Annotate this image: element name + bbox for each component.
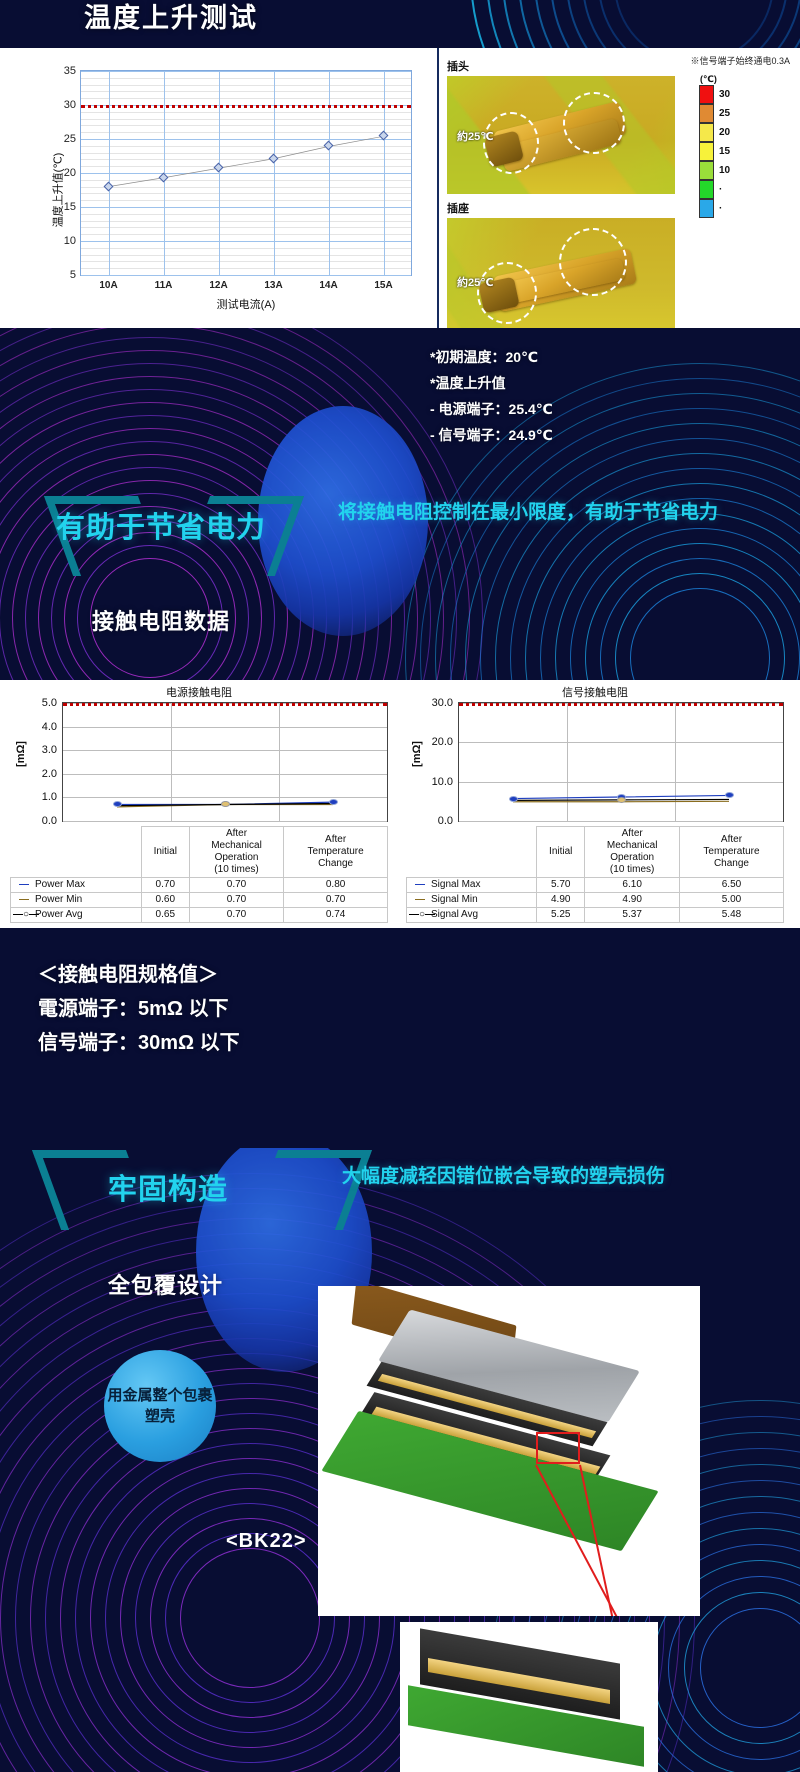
chart-gridline — [81, 275, 411, 276]
chart-x-axis-label: 测试电流(A) — [80, 296, 412, 312]
zoom-highlight-box — [536, 1432, 580, 1464]
decorative-arc — [615, 573, 785, 680]
decorative-arc — [570, 528, 800, 680]
signal-resistance-table: InitialAfterMechanicalOperation(10 times… — [406, 826, 784, 923]
legend-dash-blue-icon: — — [409, 879, 431, 891]
signal-resistance-chart: 信号接触电阻 [mΩ] 0.010.020.030.0 InitialAfter… — [400, 684, 790, 924]
decorative-arc — [630, 588, 770, 680]
table-row: —○—Signal Avg5.255.375.48 — [407, 908, 784, 923]
chart-gridline — [63, 821, 387, 822]
header-band: 温度上升测试 — [0, 0, 800, 48]
table-cell: 0.70 — [189, 878, 283, 893]
table-column-header: AfterMechanicalOperation(10 times) — [585, 827, 680, 878]
table-row-label: —Signal Min — [407, 893, 537, 908]
thermal-scale-row: 25 — [699, 104, 745, 123]
legend-dash-gold-icon: — — [409, 894, 431, 906]
table-cell: 4.90 — [585, 893, 680, 908]
legend-label: Signal Avg — [431, 909, 478, 920]
thermal-scale-row: 20 — [699, 123, 745, 142]
table-cell: 5.37 — [585, 908, 680, 923]
thermal-scale-row: 10 — [699, 161, 745, 180]
thermal-color-scale: (℃) 3025201510·· — [699, 74, 745, 218]
decorative-arc — [480, 438, 800, 680]
thermal-scale-row: 30 — [699, 85, 745, 104]
table-cell: 4.90 — [537, 893, 585, 908]
product-detail-zoom — [400, 1622, 658, 1772]
table-cell: 0.70 — [284, 893, 388, 908]
table-column-header: AfterTemperatureChange — [284, 827, 388, 878]
temperature-rise-chart: 温度上升值(℃) 510152025303510A11A12A13A14A15A… — [22, 66, 422, 314]
chart-y-tick: 35 — [64, 65, 76, 77]
table-row: —Signal Max5.706.106.50 — [407, 878, 784, 893]
thermal-socket-highlight-1 — [477, 262, 537, 324]
table-cell: 0.65 — [141, 908, 189, 923]
temperature-notes: *初期温度：20℃ *温度上升值 - 电源端子：25.4℃ - 信号端子：24.… — [430, 344, 553, 448]
chart-y-tick: 4.0 — [42, 721, 57, 733]
table-cell: 5.70 — [537, 878, 585, 893]
table-cell: 6.50 — [679, 878, 783, 893]
table-row-label: —Power Max — [11, 878, 142, 893]
spec-line-signal: 信号端子：30mΩ 以下 — [38, 1026, 240, 1060]
legend-label: Power Min — [35, 894, 82, 905]
chart-x-tick: 14A — [319, 280, 337, 291]
slide-page: 温度上升测试 ※信号端子始终通电0.3A 温度上升值(℃) 5101520253… — [0, 0, 800, 1772]
decorative-arc — [450, 408, 800, 680]
table-cell: 0.60 — [141, 893, 189, 908]
table-header-row: InitialAfterMechanicalOperation(10 times… — [407, 827, 784, 878]
table-row-label: —○—Power Avg — [11, 908, 142, 923]
thermal-scale-unit: (℃) — [700, 74, 745, 85]
thermal-plug-highlight-2 — [563, 92, 625, 154]
chart-y-tick: 5 — [70, 269, 76, 281]
chart-y-tick: 3.0 — [42, 744, 57, 756]
chart-y-axis-label: 温度上升值(℃) — [49, 153, 65, 228]
thermal-scale-row: 15 — [699, 142, 745, 161]
chart-x-tick: 12A — [209, 280, 227, 291]
table-cell: 5.00 — [679, 893, 783, 908]
contact-resistance-panel: 电源接触电阻 [mΩ] 0.01.02.03.04.05.0 InitialAf… — [0, 680, 800, 928]
table-row-label: —○—Signal Avg — [407, 908, 537, 923]
thermal-scale-value: · — [719, 203, 722, 214]
power-chart-y-label: [mΩ] — [15, 741, 27, 767]
table-cell: 0.74 — [284, 908, 388, 923]
thermal-scale-swatch — [699, 123, 714, 142]
power-resistance-chart: 电源接触电阻 [mΩ] 0.01.02.03.04.05.0 InitialAf… — [4, 684, 394, 924]
table-row: —Power Min0.600.700.70 — [11, 893, 388, 908]
metal-cover-bubble: 用金属整个包裹塑壳 — [104, 1350, 216, 1462]
table-header-row: InitialAfterMechanicalOperation(10 times… — [11, 827, 388, 878]
chart-x-tick: 15A — [374, 280, 392, 291]
page-title: 温度上升测试 — [84, 0, 258, 35]
thermal-scale-swatch — [699, 142, 714, 161]
chart-data-point — [509, 796, 518, 802]
power-saving-band: *初期温度：20℃ *温度上升值 - 电源端子：25.4℃ - 信号端子：24.… — [0, 328, 800, 680]
thermal-scale-value: 30 — [719, 89, 730, 100]
table-cell: 0.70 — [189, 908, 283, 923]
thermal-socket-highlight-2 — [559, 228, 627, 296]
chart-series-line — [81, 71, 411, 275]
thermal-scale-value: 10 — [719, 165, 730, 176]
legend-dash-gold-icon: — — [13, 894, 35, 906]
structure-band: 牢固构造 大幅度减轻因错位嵌合导致的塑壳损伤 全包覆设计 用金属整个包裹塑壳 <… — [0, 1148, 800, 1772]
chart-y-tick: 30 — [64, 99, 76, 111]
table-column-header: AfterTemperatureChange — [679, 827, 783, 878]
temperature-test-panel: ※信号端子始终通电0.3A 温度上升值(℃) 510152025303510A1… — [0, 48, 800, 328]
chart-y-tick: 10.0 — [432, 776, 453, 788]
thermal-scale-swatch — [699, 104, 714, 123]
thermal-scale-swatch — [699, 199, 714, 218]
temp-note-3: - 信号端子：24.9℃ — [430, 422, 553, 448]
chart-y-tick: 1.0 — [42, 791, 57, 803]
signal-chart-title: 信号接触电阻 — [400, 684, 790, 700]
power-chart-title: 电源接触电阻 — [4, 684, 394, 700]
power-resistance-table: InitialAfterMechanicalOperation(10 times… — [10, 826, 388, 923]
chart-y-tick: 15 — [64, 201, 76, 213]
chart-y-tick: 5.0 — [42, 697, 57, 709]
table-row-label: —Power Min — [11, 893, 142, 908]
spec-block: ＜接触电阻规格值＞ 電源端子：5mΩ 以下 信号端子：30mΩ 以下 — [38, 958, 240, 1060]
thermal-scale-swatch — [699, 85, 714, 104]
thermal-scale-value: 25 — [719, 108, 730, 119]
part-name-label: <BK22> — [226, 1530, 307, 1553]
table-cell: 0.70 — [141, 878, 189, 893]
thermal-scale-value: 20 — [719, 127, 730, 138]
thermal-scale-swatch — [699, 161, 714, 180]
table-row: —Power Max0.700.700.80 — [11, 878, 388, 893]
legend-line-circle-icon: —○— — [409, 909, 431, 921]
thermal-scale-row: · — [699, 199, 745, 218]
decorative-arc — [555, 513, 800, 680]
thermal-scale-swatch — [699, 180, 714, 199]
thermal-scale-value: · — [719, 184, 722, 195]
metal-cover-bubble-text: 用金属整个包裹塑壳 — [104, 1385, 216, 1427]
table-header-blank — [11, 827, 142, 878]
chart-x-tick: 11A — [155, 280, 173, 291]
thermal-images-group: 插头 約25℃ 插座 約25℃ ( — [447, 58, 747, 336]
table-column-header: AfterMechanicalOperation(10 times) — [189, 827, 283, 878]
decorative-arc — [165, 1533, 335, 1703]
signal-chart-plot: 0.010.020.030.0 — [458, 702, 784, 822]
table-row: —Signal Min4.904.905.00 — [407, 893, 784, 908]
chart-data-point-avg — [617, 797, 626, 803]
thermal-scale-value: 15 — [719, 146, 730, 157]
chart-gridline — [459, 821, 783, 822]
power-chart-plot: 0.01.02.03.04.05.0 — [62, 702, 388, 822]
chart-y-tick: 25 — [64, 133, 76, 145]
temp-note-0: *初期温度：20℃ — [430, 344, 553, 370]
table-column-header: Initial — [141, 827, 189, 878]
table-row: —○—Power Avg0.650.700.74 — [11, 908, 388, 923]
section-subtitle-full-cover: 全包覆设计 — [108, 1268, 223, 1300]
chart-y-tick: 30.0 — [432, 697, 453, 709]
chart-series-group — [459, 703, 783, 821]
legend-label: Signal Min — [431, 894, 478, 905]
temp-note-1: *温度上升值 — [430, 370, 553, 396]
spec-title: ＜接触电阻规格值＞ — [38, 958, 240, 992]
decorative-arc — [700, 1608, 800, 1728]
temp-note-2: - 电源端子：25.4℃ — [430, 396, 553, 422]
thermal-scale-row: · — [699, 180, 745, 199]
legend-dash-blue-icon: — — [13, 879, 35, 891]
table-column-header: Initial — [537, 827, 585, 878]
spec-line-power: 電源端子：5mΩ 以下 — [38, 992, 240, 1026]
headline-power-description: 将接触电阻控制在最小限度，有助于节省电力 — [338, 498, 758, 527]
legend-label: Power Max — [35, 879, 85, 890]
chart-y-tick: 20 — [64, 167, 76, 179]
thermal-socket-image: 約25℃ — [447, 218, 675, 336]
headline-structure: 牢固构造 — [108, 1166, 228, 1208]
table-cell: 0.70 — [189, 893, 283, 908]
decorative-arc — [585, 543, 800, 680]
table-cell: 0.80 — [284, 878, 388, 893]
chart-x-tick: 10A — [99, 280, 117, 291]
chart-y-tick: 20.0 — [432, 736, 453, 748]
table-cell: 6.10 — [585, 878, 680, 893]
chart-x-tick: 13A — [264, 280, 282, 291]
legend-label: Power Avg — [35, 909, 83, 920]
signal-chart-y-label: [mΩ] — [411, 741, 423, 767]
product-illustration — [318, 1286, 700, 1616]
decorative-arc — [465, 423, 800, 680]
thermal-socket-temp: 約25℃ — [457, 274, 494, 290]
headline-structure-description: 大幅度减轻因错位嵌合导致的塑壳损伤 — [342, 1162, 762, 1191]
legend-label: Signal Max — [431, 879, 480, 890]
table-header-blank — [407, 827, 537, 878]
table-row-label: —Signal Max — [407, 878, 537, 893]
table-cell: 5.48 — [679, 908, 783, 923]
thermal-plug-temp: 約25℃ — [457, 128, 494, 144]
decorative-arc — [495, 453, 800, 680]
legend-line-circle-icon: —○— — [13, 909, 35, 921]
decorative-arc — [600, 558, 800, 680]
headline-power-saving: 有助于节省电力 — [56, 504, 266, 546]
chart-y-tick: 2.0 — [42, 768, 57, 780]
chart-plot-area: 510152025303510A11A12A13A14A15A — [80, 70, 412, 276]
panel-divider — [437, 48, 439, 328]
decorative-arc — [180, 1548, 320, 1688]
section-subtitle-resistance: 接触电阻数据 — [92, 604, 230, 636]
thermal-plug-label: 插头 — [447, 58, 747, 74]
chart-y-tick: 10 — [64, 235, 76, 247]
table-cell: 5.25 — [537, 908, 585, 923]
thermal-plug-image: 約25℃ — [447, 76, 675, 194]
decorative-arc — [684, 1592, 800, 1744]
spec-band: ＜接触电阻规格值＞ 電源端子：5mΩ 以下 信号端子：30mΩ 以下 — [0, 928, 800, 1148]
